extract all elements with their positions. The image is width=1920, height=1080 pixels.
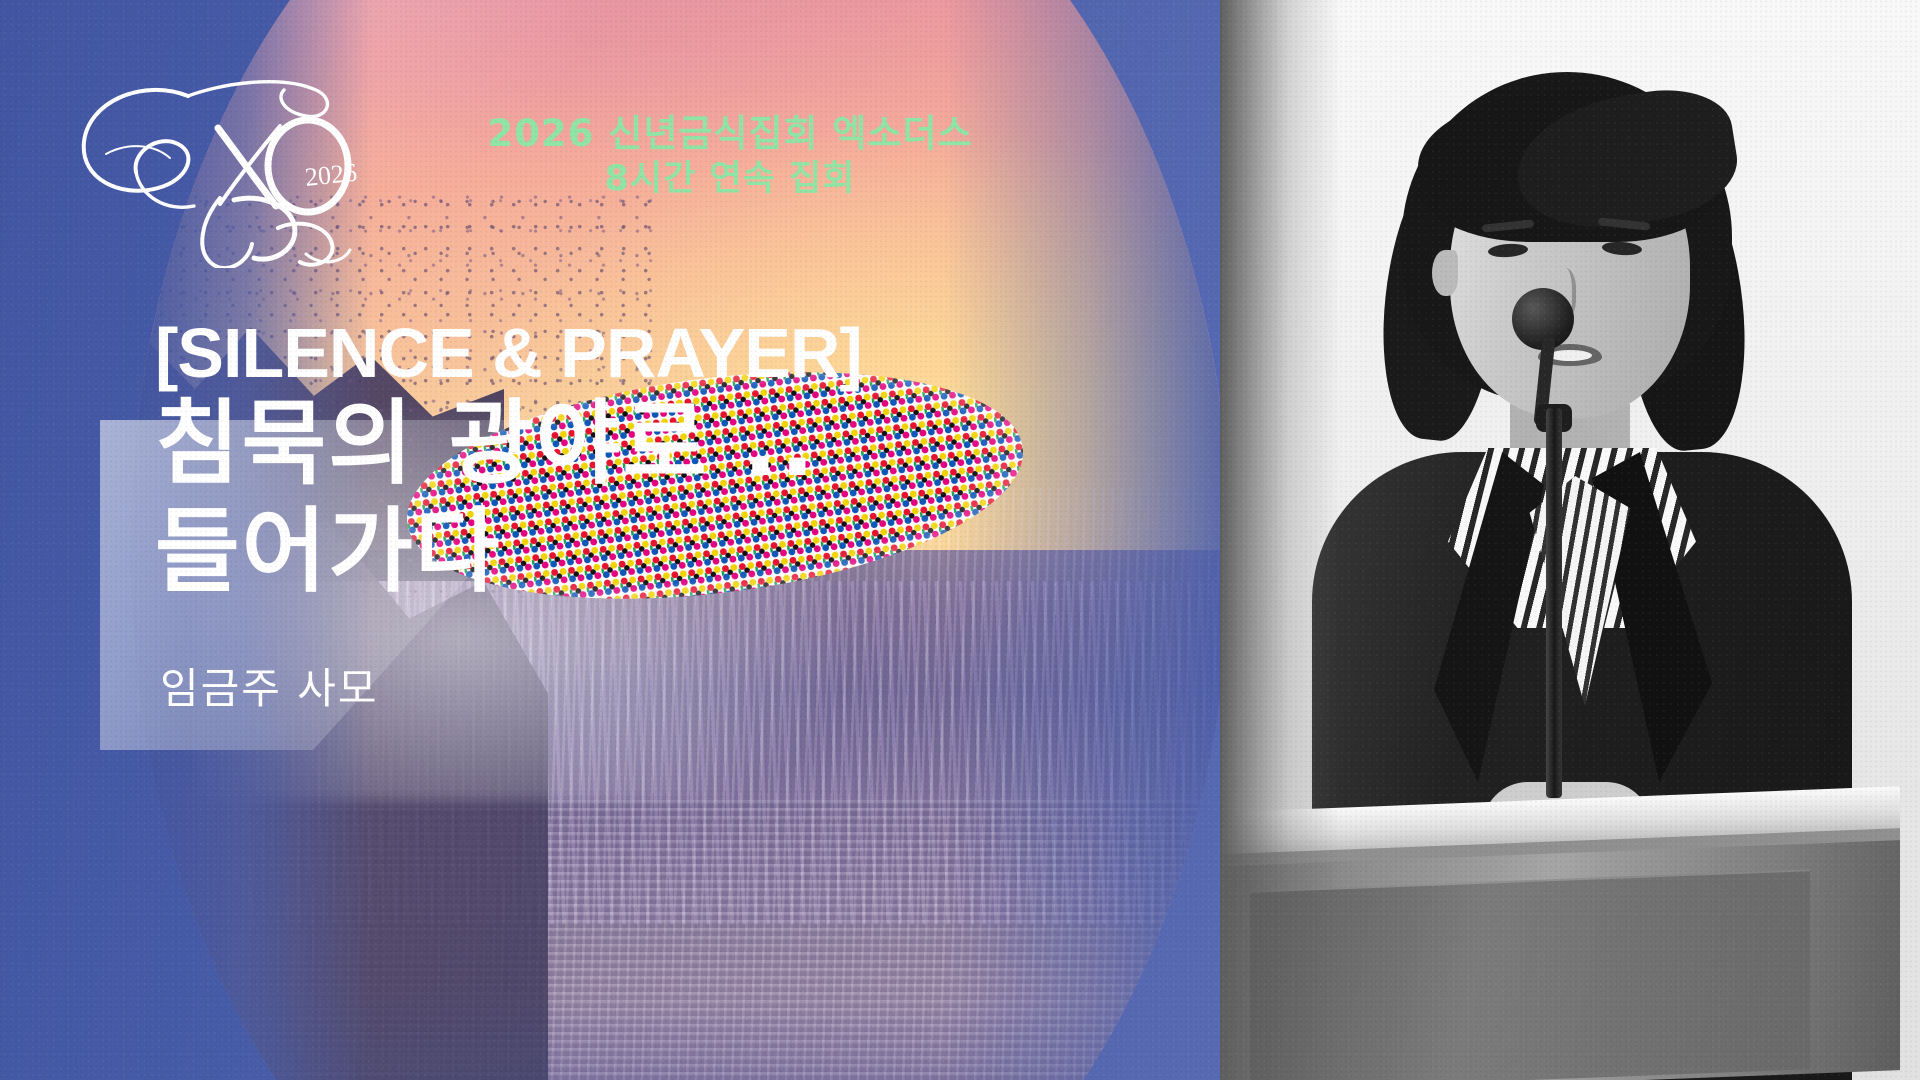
svg-text:2026: 2026 <box>304 158 359 192</box>
photo-veil-bottom <box>130 987 1230 1080</box>
headline-block: [SILENCE & PRAYER] 침묵의 광야로 .. 들어가다 <box>155 318 975 604</box>
portrait-left-fade <box>1220 0 1340 1080</box>
event-title-line-2: 8시간 연속 집회 <box>420 157 1040 202</box>
event-title-line-1: 2026 신년금식집회 엑소더스 <box>420 110 1040 157</box>
headline-korean-line-1: 침묵의 광야로 .. <box>155 392 975 496</box>
exodus-logo: 2026 <box>70 68 370 268</box>
poster-canvas: 2026 2026 신년금식집회 엑소더스 8시간 연속 집회 [SILENCE… <box>0 0 1920 1080</box>
microphone-stand <box>1546 408 1562 798</box>
headline-english: [SILENCE & PRAYER] <box>155 318 975 388</box>
event-title-block: 2026 신년금식집회 엑소더스 8시간 연속 집회 <box>420 110 1040 202</box>
speaker-name: 임금주 사모 <box>160 655 379 716</box>
portrait-teeth <box>1548 350 1592 361</box>
headline-korean-line-2: 들어가다 <box>155 500 975 604</box>
speaker-portrait-photo <box>1220 0 1920 1080</box>
portrait-ear <box>1432 250 1458 296</box>
